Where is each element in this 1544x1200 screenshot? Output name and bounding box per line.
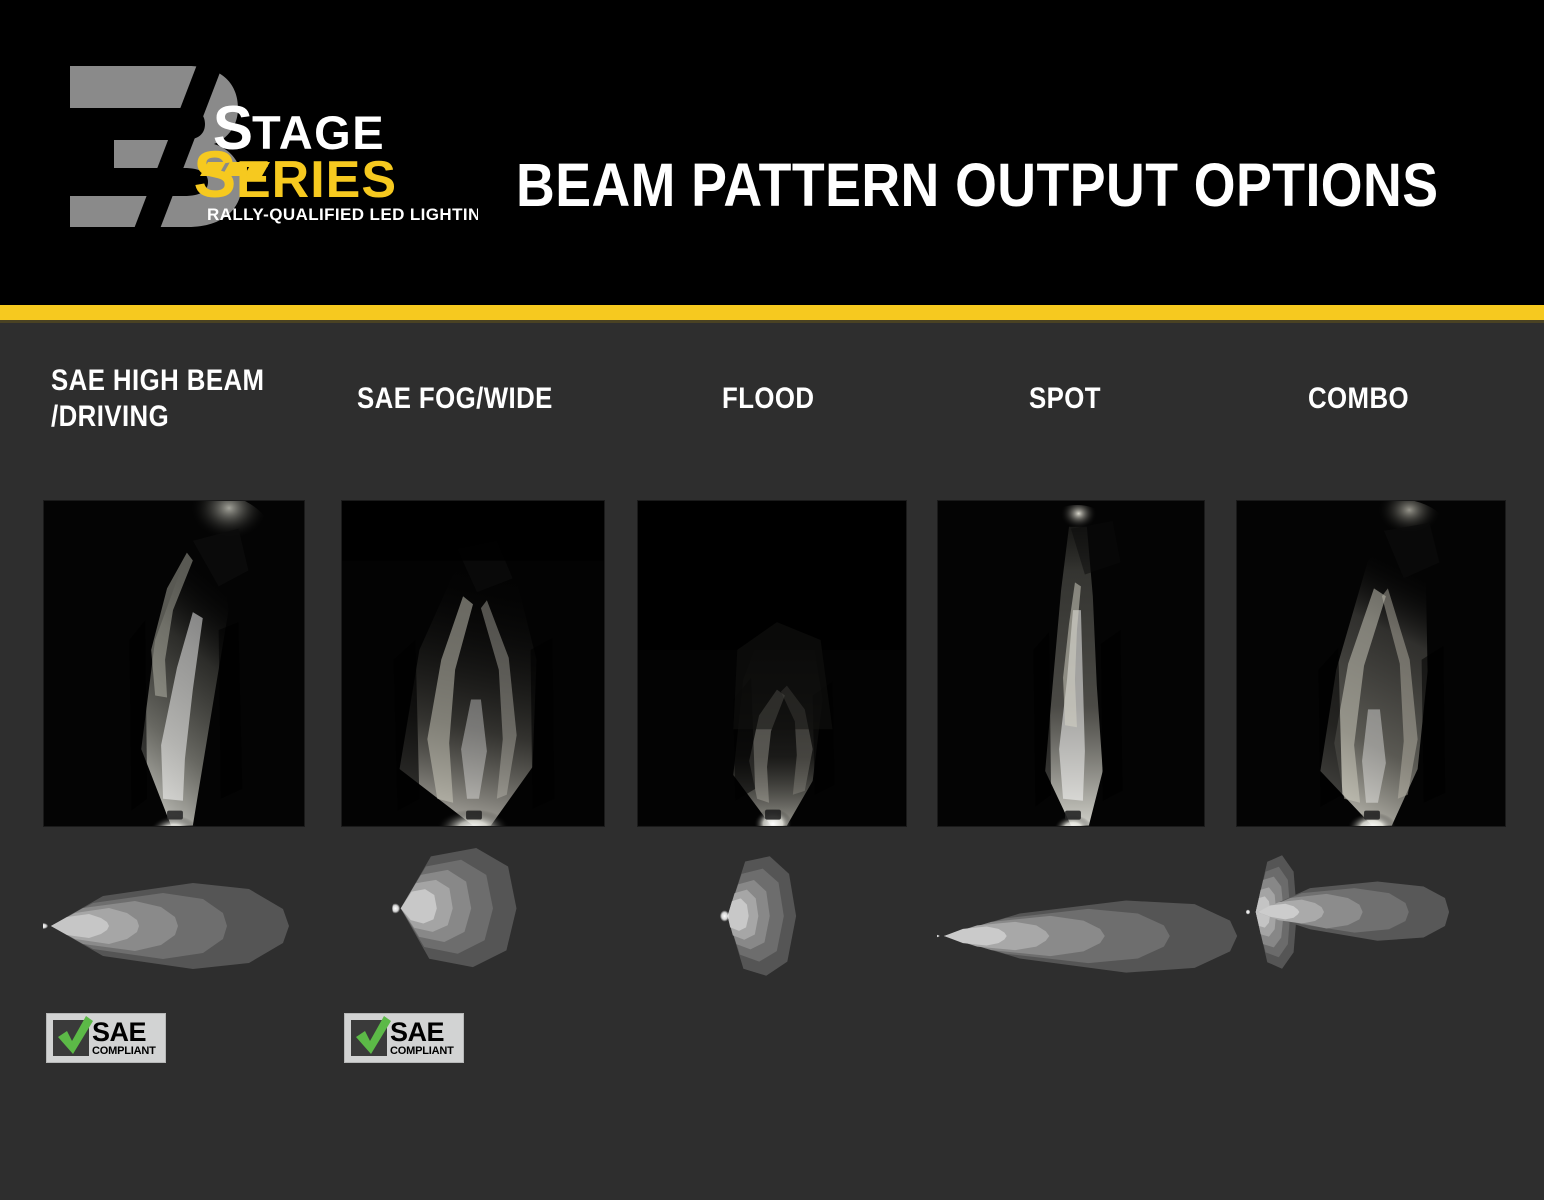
stage-series-logo: S TAGE S ERIES RALLY-QUALIFIED LED LIGHT… [48, 52, 478, 237]
column-combo: COMBO [1236, 323, 1506, 1200]
columns-container: SAE HIGH BEAM /DRIVING [0, 323, 1544, 1200]
sae-badge-title: SAE [390, 1020, 454, 1045]
page-title: BEAM PATTERN OUTPUT OPTIONS [516, 155, 1438, 216]
column-sae-fog-wide: SAE FOG/WIDE [341, 323, 605, 1200]
sae-badge-title: SAE [92, 1020, 156, 1045]
sae-compliant-badge-fog-wide: SAE COMPLIANT [344, 1013, 464, 1063]
beam-shape-sae-high-beam [43, 861, 305, 991]
beam-shape-sae-fog-wide [389, 843, 557, 998]
logo-word-series: S [194, 137, 237, 211]
beam-shape-flood [703, 851, 831, 999]
column-label-combo: COMBO [1308, 381, 1544, 417]
beam-photo-flood [637, 500, 907, 827]
sae-badge-subtitle: COMPLIANT [92, 1045, 156, 1057]
column-flood: FLOOD [637, 323, 907, 1200]
sae-checkbox-icon [351, 1020, 387, 1056]
svg-text:ERIES: ERIES [236, 151, 397, 209]
column-label-spot: SPOT [1029, 381, 1270, 417]
beam-pattern-infographic: S TAGE S ERIES RALLY-QUALIFIED LED LIGHT… [0, 0, 1544, 1200]
beam-shape-combo [1236, 847, 1506, 1005]
beam-photo-combo [1236, 500, 1506, 827]
column-spot: SPOT [937, 323, 1205, 1200]
column-sae-high-beam: SAE HIGH BEAM /DRIVING [43, 323, 305, 1200]
beam-photo-sae-fog-wide [341, 500, 605, 827]
accent-divider-bar [0, 305, 1544, 320]
sae-compliant-badge-high-beam: SAE COMPLIANT [46, 1013, 166, 1063]
beam-shape-spot [937, 871, 1205, 981]
column-label-flood: FLOOD [722, 381, 963, 417]
column-label-sae-fog-wide: SAE FOG/WIDE [357, 381, 615, 417]
header-bar: S TAGE S ERIES RALLY-QUALIFIED LED LIGHT… [0, 0, 1544, 305]
logo-tagline: RALLY-QUALIFIED LED LIGHTING [207, 205, 478, 224]
beam-photo-sae-high-beam [43, 500, 305, 827]
beam-photo-spot [937, 500, 1205, 827]
sae-checkbox-icon [53, 1020, 89, 1056]
column-label-sae-high-beam: SAE HIGH BEAM /DRIVING [51, 363, 309, 435]
sae-badge-subtitle: COMPLIANT [390, 1045, 454, 1057]
